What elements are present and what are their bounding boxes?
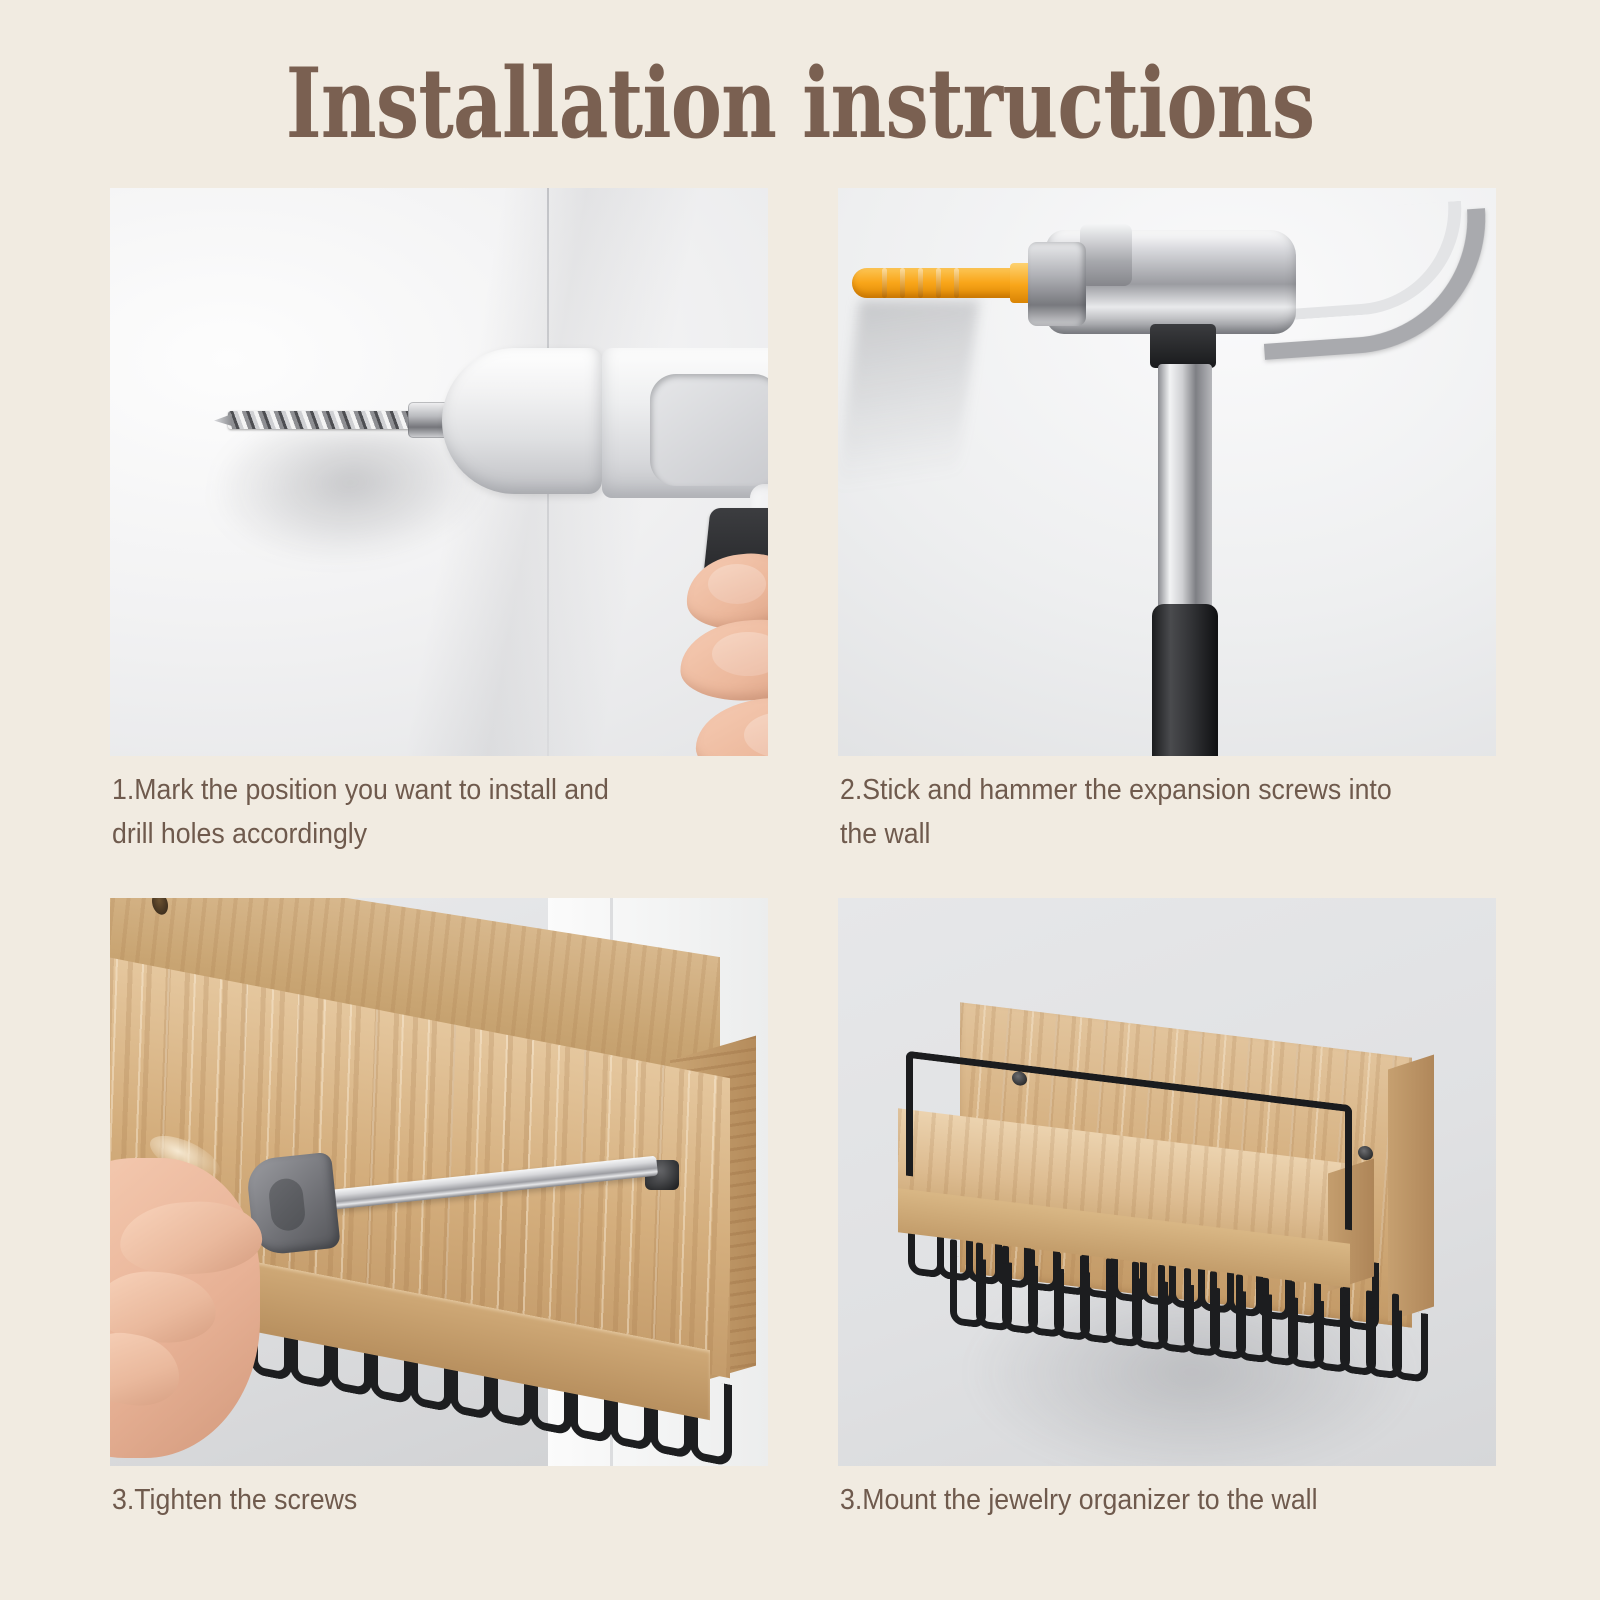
step-1-caption: 1.Mark the position you want to install … xyxy=(112,768,756,856)
drill-head xyxy=(442,348,602,494)
step-2-caption: 2.Stick and hammer the expansion screws … xyxy=(840,768,1484,856)
anchor-rib xyxy=(900,268,905,298)
hammer-neck xyxy=(1080,224,1132,286)
claw-hammer-icon xyxy=(1028,206,1478,746)
hammer-collar xyxy=(1150,324,1216,368)
anchor-rib xyxy=(882,268,887,298)
anchor-rib xyxy=(954,268,959,298)
hand xyxy=(110,1098,370,1466)
expansion-anchor-icon xyxy=(852,266,1052,300)
hammer-shaft xyxy=(1158,364,1212,624)
infographic-page: Installation instructions 1.Mark the pos… xyxy=(0,0,1600,1600)
hammer-face xyxy=(1028,242,1086,326)
drill-vent xyxy=(650,374,768,486)
jewelry-organizer xyxy=(888,1016,1448,1376)
step-1-image xyxy=(110,188,768,756)
anchor-rib xyxy=(936,268,941,298)
page-title: Installation instructions xyxy=(160,52,1440,156)
drill-bit-icon xyxy=(228,411,414,429)
anchor-rib xyxy=(918,268,923,298)
step-3-caption: 3.Tighten the screws xyxy=(112,1478,756,1522)
hand xyxy=(670,548,768,756)
step-4-caption: 3.Mount the jewelry organizer to the wal… xyxy=(840,1478,1484,1522)
fingernail xyxy=(708,564,766,604)
anchor-body xyxy=(852,268,1016,298)
step-4-image xyxy=(838,898,1496,1466)
hammer-grip xyxy=(1152,604,1218,756)
hook xyxy=(1392,1309,1428,1382)
step-3-image xyxy=(110,898,768,1466)
back-panel-side xyxy=(1388,1055,1434,1322)
step-2-image xyxy=(838,188,1496,756)
screw-hole xyxy=(152,898,168,917)
